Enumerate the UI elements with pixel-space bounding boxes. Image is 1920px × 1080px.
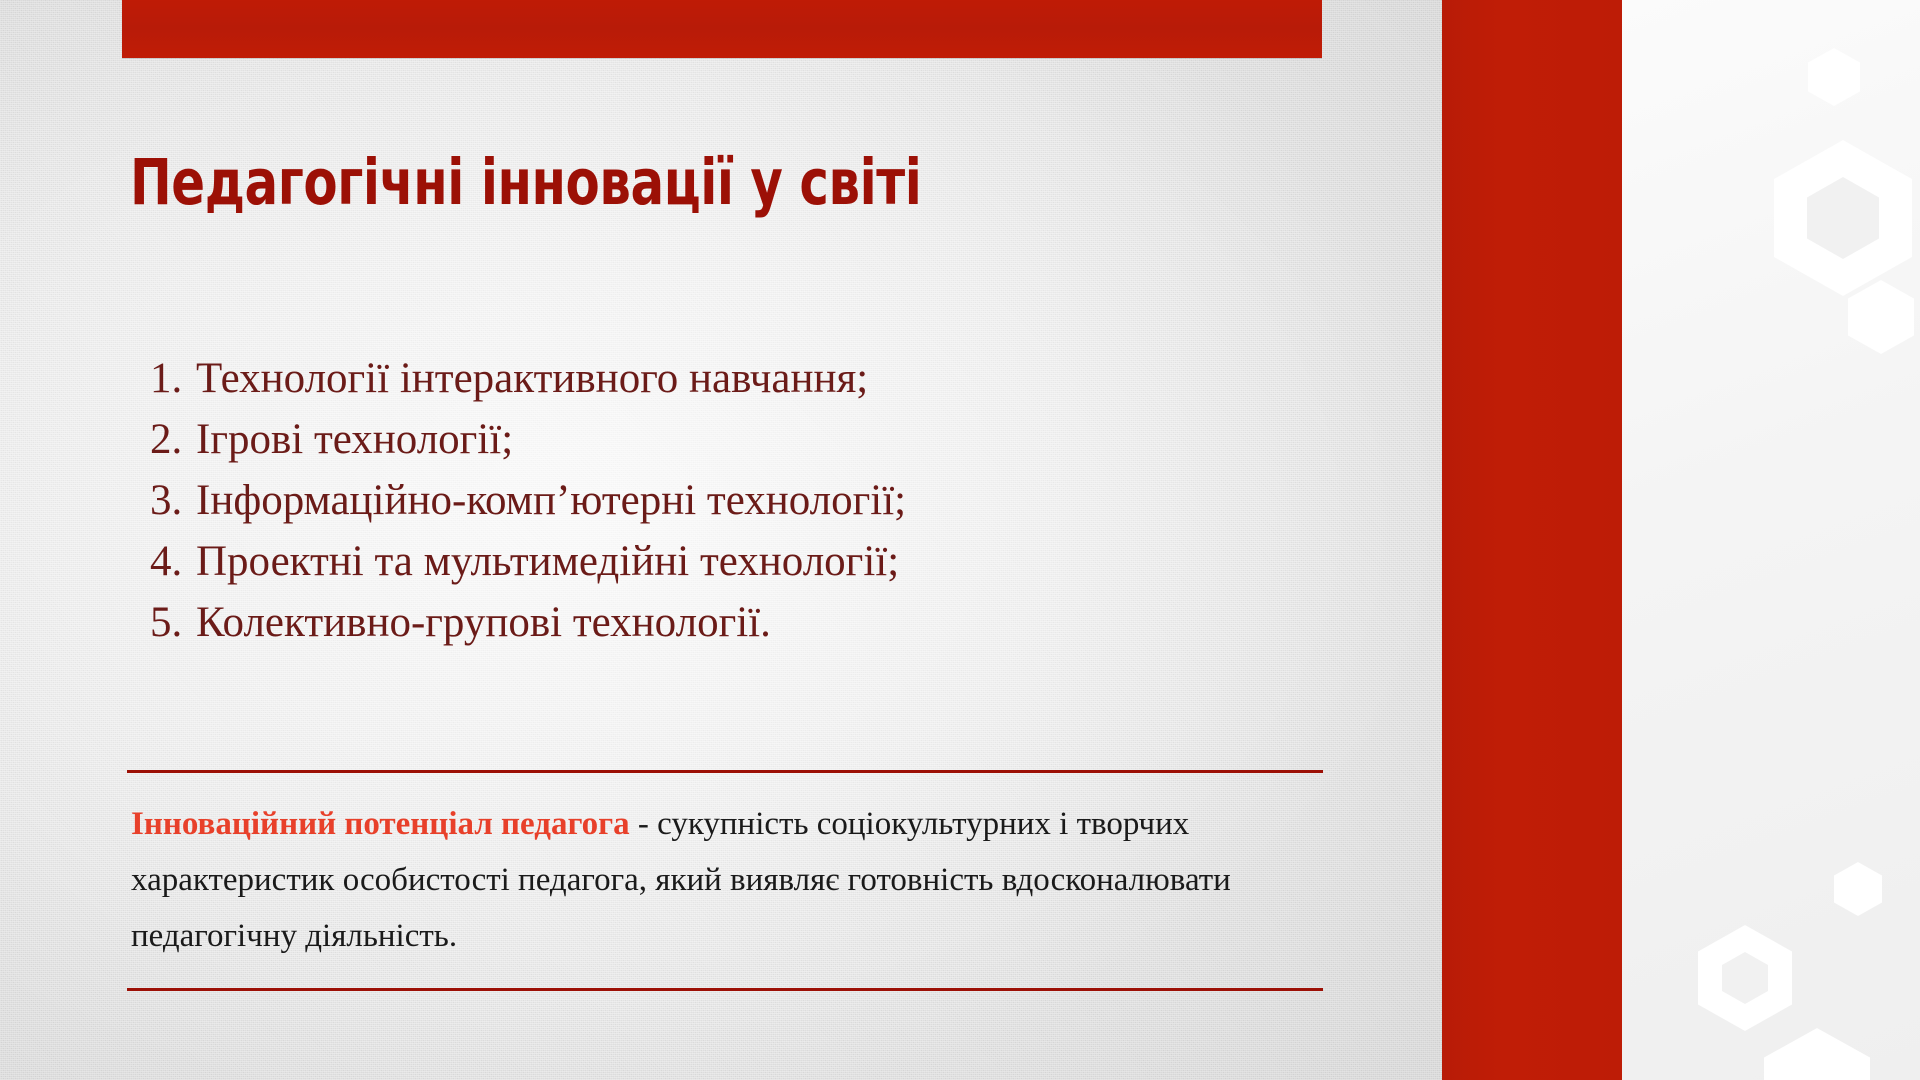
list-item: 4. Проектні та мультимедійні технології; [150,531,1380,592]
top-accent-bar [122,0,1322,58]
list-item-number: 1. [150,348,196,409]
definition-rule-bottom [127,988,1323,991]
list-item: 5. Колективно-групові технології. [150,592,1380,653]
definition-separator: - [630,806,658,842]
definition-block: Інноваційний потенціал педагога - сукупн… [131,796,1346,964]
list-item-number: 2. [150,409,196,470]
list-item-label: Колективно-групові технології. [196,592,771,653]
hexagon-icon [1848,280,1914,354]
hexagon-icon [1808,48,1860,106]
definition-term: Інноваційний потенціал педагога [131,806,630,842]
list-item-number: 5. [150,592,196,653]
list-item-number: 4. [150,531,196,592]
list-item-label: Проектні та мультимедійні технології; [196,531,899,592]
slide-canvas: Педагогічні інновації у світі 1. Техноло… [0,0,1920,1080]
list-item: 2. Ігрові технології; [150,409,1380,470]
list-item: 3. Інформаційно-комп’ютерні технології; [150,470,1380,531]
definition-rule-top [127,770,1323,773]
list-item-label: Інформаційно-комп’ютерні технології; [196,470,906,531]
decorative-side-panel [1622,0,1920,1080]
list-item-label: Технології інтерактивного навчання; [196,348,868,409]
numbered-list: 1. Технології інтерактивного навчання; 2… [150,348,1380,653]
hexagon-icon [1764,1028,1870,1080]
list-item-number: 3. [150,470,196,531]
page-title: Педагогічні інновації у світі [130,150,1168,216]
hexagon-icon [1834,862,1882,916]
list-item-label: Ігрові технології; [196,409,513,470]
right-accent-column [1442,0,1622,1080]
list-item: 1. Технології інтерактивного навчання; [150,348,1380,409]
